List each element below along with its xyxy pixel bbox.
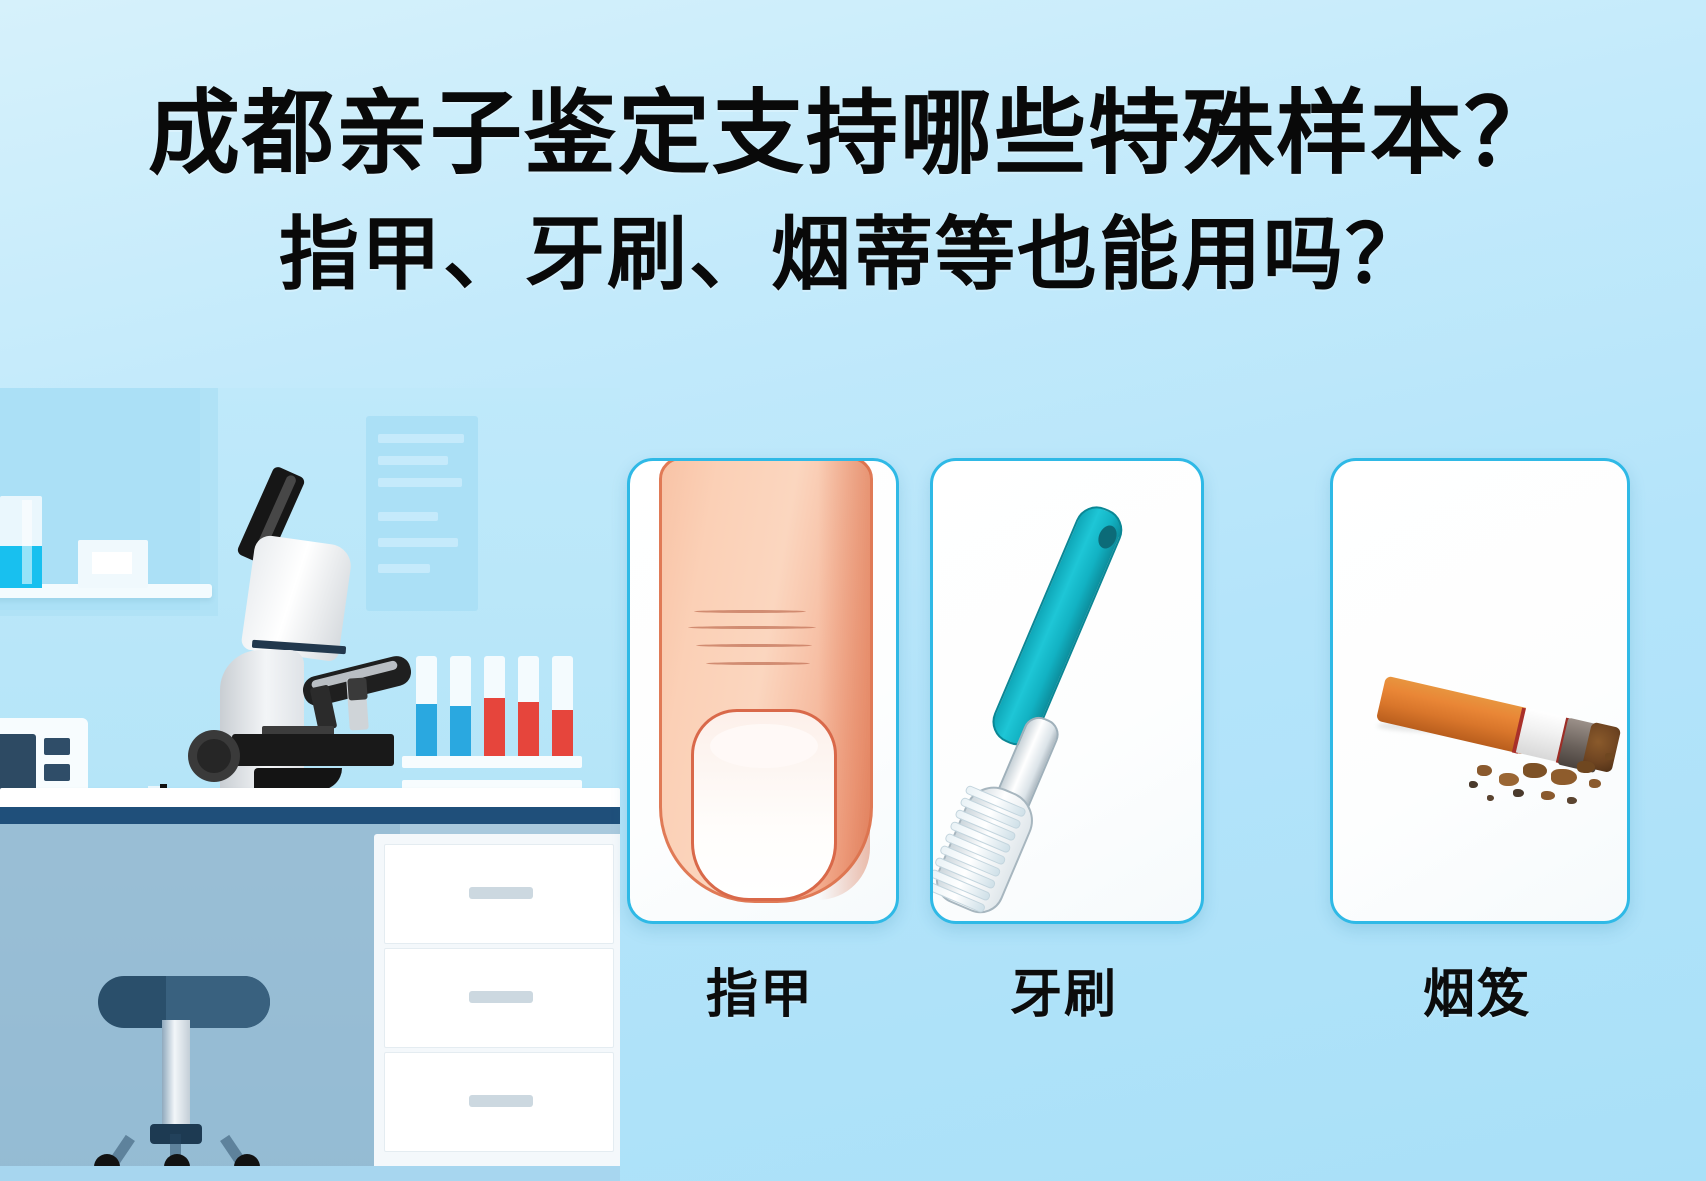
sample-card-cigarette[interactable] [1330, 458, 1630, 924]
sample-card-label-cigarette: 烟笈 [1330, 952, 1624, 1027]
page-title-line-1: 成都亲子鉴定支持哪些特殊样本？ [0, 86, 1706, 183]
toothbrush-icon [933, 461, 1201, 921]
cabinet-drawers-icon [374, 834, 620, 1166]
headline-block: 成都亲子鉴定支持哪些特殊样本？ 指甲、牙刷、烟蒂等也能用吗？ [0, 86, 1706, 297]
floor-strip [0, 1166, 620, 1181]
sample-card-label-toothbrush: 牙刷 [930, 952, 1198, 1027]
cigarette-butt-icon [1381, 657, 1591, 767]
poster-canvas: 成都亲子鉴定支持哪些特殊样本？ 指甲、牙刷、烟蒂等也能用吗？ [0, 0, 1706, 1181]
sample-card-nail[interactable] [627, 458, 899, 924]
sample-card-toothbrush[interactable] [930, 458, 1204, 924]
page-title-line-2: 指甲、牙刷、烟蒂等也能用吗？ [0, 213, 1706, 297]
test-tube-rack-icon [408, 656, 576, 796]
lab-stool-icon [82, 976, 272, 1176]
sample-card-label-nail: 指甲 [627, 952, 893, 1027]
bench-edge [0, 807, 620, 825]
beaker-icon [0, 496, 42, 588]
fingernail-icon [659, 458, 867, 924]
shelf-box [78, 540, 148, 588]
laboratory-illustration [0, 388, 620, 1181]
